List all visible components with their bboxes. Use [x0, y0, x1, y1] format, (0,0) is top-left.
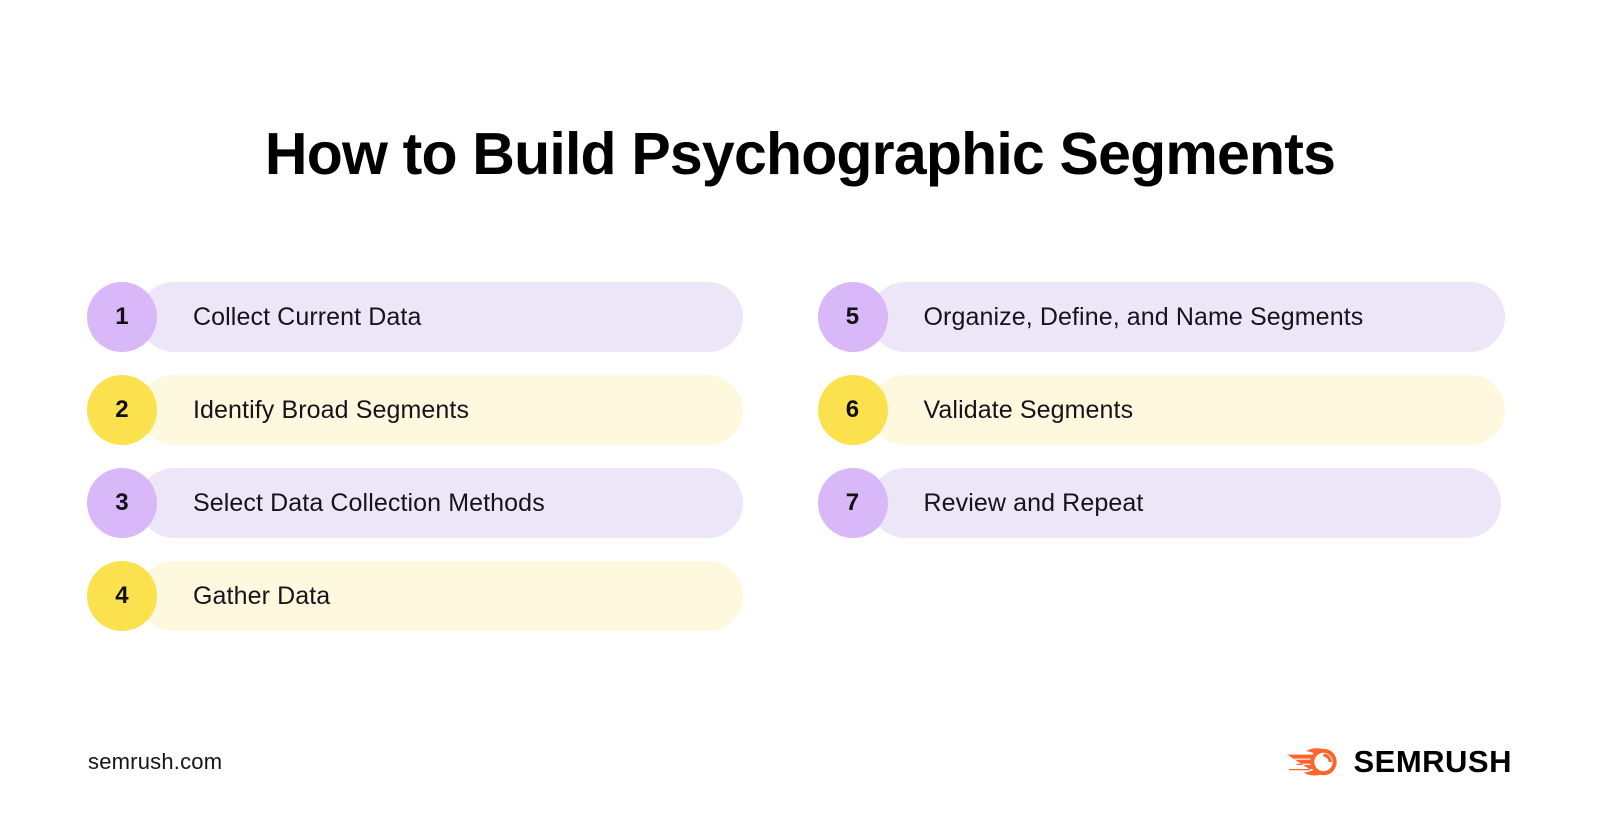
step-pill: Validate Segments [870, 375, 1505, 445]
step-number: 3 [115, 489, 129, 517]
steps-grid: 1 Collect Current Data 2 Identify Broad … [87, 282, 1513, 631]
step-item: 5 Organize, Define, and Name Segments [818, 282, 1514, 352]
infographic-canvas: How to Build Psychographic Segments 1 Co… [0, 0, 1600, 822]
step-number-badge: 7 [818, 468, 888, 538]
semrush-logo: SEMRUSH [1285, 744, 1512, 780]
step-number-badge: 4 [87, 561, 157, 631]
page-title: How to Build Psychographic Segments [0, 118, 1600, 190]
step-label: Validate Segments [924, 395, 1134, 425]
step-pill: Organize, Define, and Name Segments [870, 282, 1505, 352]
step-item: 3 Select Data Collection Methods [87, 468, 783, 538]
step-item: 1 Collect Current Data [87, 282, 783, 352]
step-number: 1 [115, 303, 129, 331]
steps-column-left: 1 Collect Current Data 2 Identify Broad … [87, 282, 783, 631]
step-number-badge: 2 [87, 375, 157, 445]
step-label: Organize, Define, and Name Segments [924, 302, 1364, 332]
step-number: 2 [115, 396, 129, 424]
step-number: 4 [115, 582, 129, 610]
step-item: 4 Gather Data [87, 561, 783, 631]
step-pill: Identify Broad Segments [139, 375, 743, 445]
steps-column-right: 5 Organize, Define, and Name Segments 6 … [818, 282, 1514, 631]
step-pill: Select Data Collection Methods [139, 468, 743, 538]
step-pill: Review and Repeat [870, 468, 1501, 538]
semrush-comet-icon [1285, 745, 1339, 779]
semrush-wordmark: SEMRUSH [1353, 745, 1512, 779]
step-label: Identify Broad Segments [193, 395, 469, 425]
step-number: 7 [846, 489, 860, 517]
step-label: Collect Current Data [193, 302, 421, 332]
step-item: 6 Validate Segments [818, 375, 1514, 445]
step-label: Select Data Collection Methods [193, 488, 545, 518]
step-pill: Collect Current Data [139, 282, 743, 352]
step-item: 7 Review and Repeat [818, 468, 1514, 538]
footer-domain-text: semrush.com [88, 748, 222, 776]
step-number: 6 [846, 396, 860, 424]
step-number-badge: 1 [87, 282, 157, 352]
step-item: 2 Identify Broad Segments [87, 375, 783, 445]
step-label: Gather Data [193, 581, 330, 611]
step-pill: Gather Data [139, 561, 743, 631]
step-number-badge: 5 [818, 282, 888, 352]
step-number-badge: 6 [818, 375, 888, 445]
step-number: 5 [846, 303, 860, 331]
step-label: Review and Repeat [924, 488, 1144, 518]
step-number-badge: 3 [87, 468, 157, 538]
